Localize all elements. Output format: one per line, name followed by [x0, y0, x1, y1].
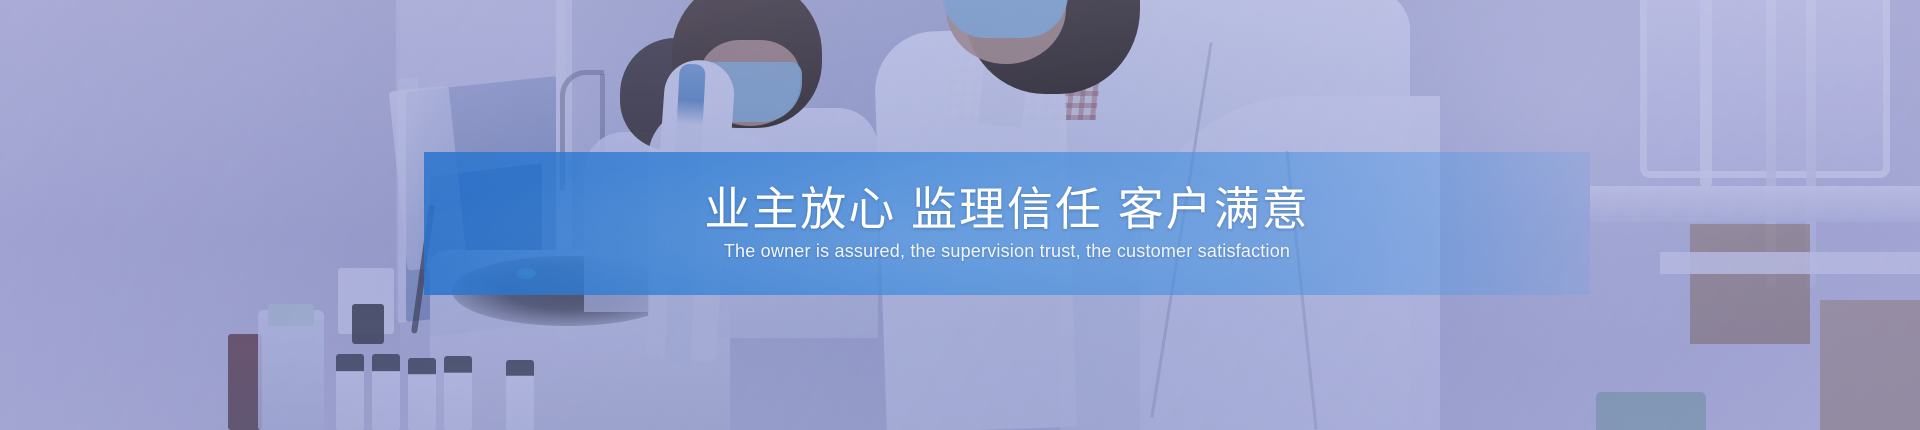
hero-banner: 业主放心 监理信任 客户满意 The owner is assured, the…	[0, 0, 1920, 430]
banner-headline: 业主放心 监理信任 客户满意	[704, 185, 1310, 235]
slogan-text-group: 业主放心 监理信任 客户满意 The owner is assured, the…	[424, 152, 1590, 295]
banner-subheadline: The owner is assured, the supervision tr…	[724, 241, 1290, 263]
